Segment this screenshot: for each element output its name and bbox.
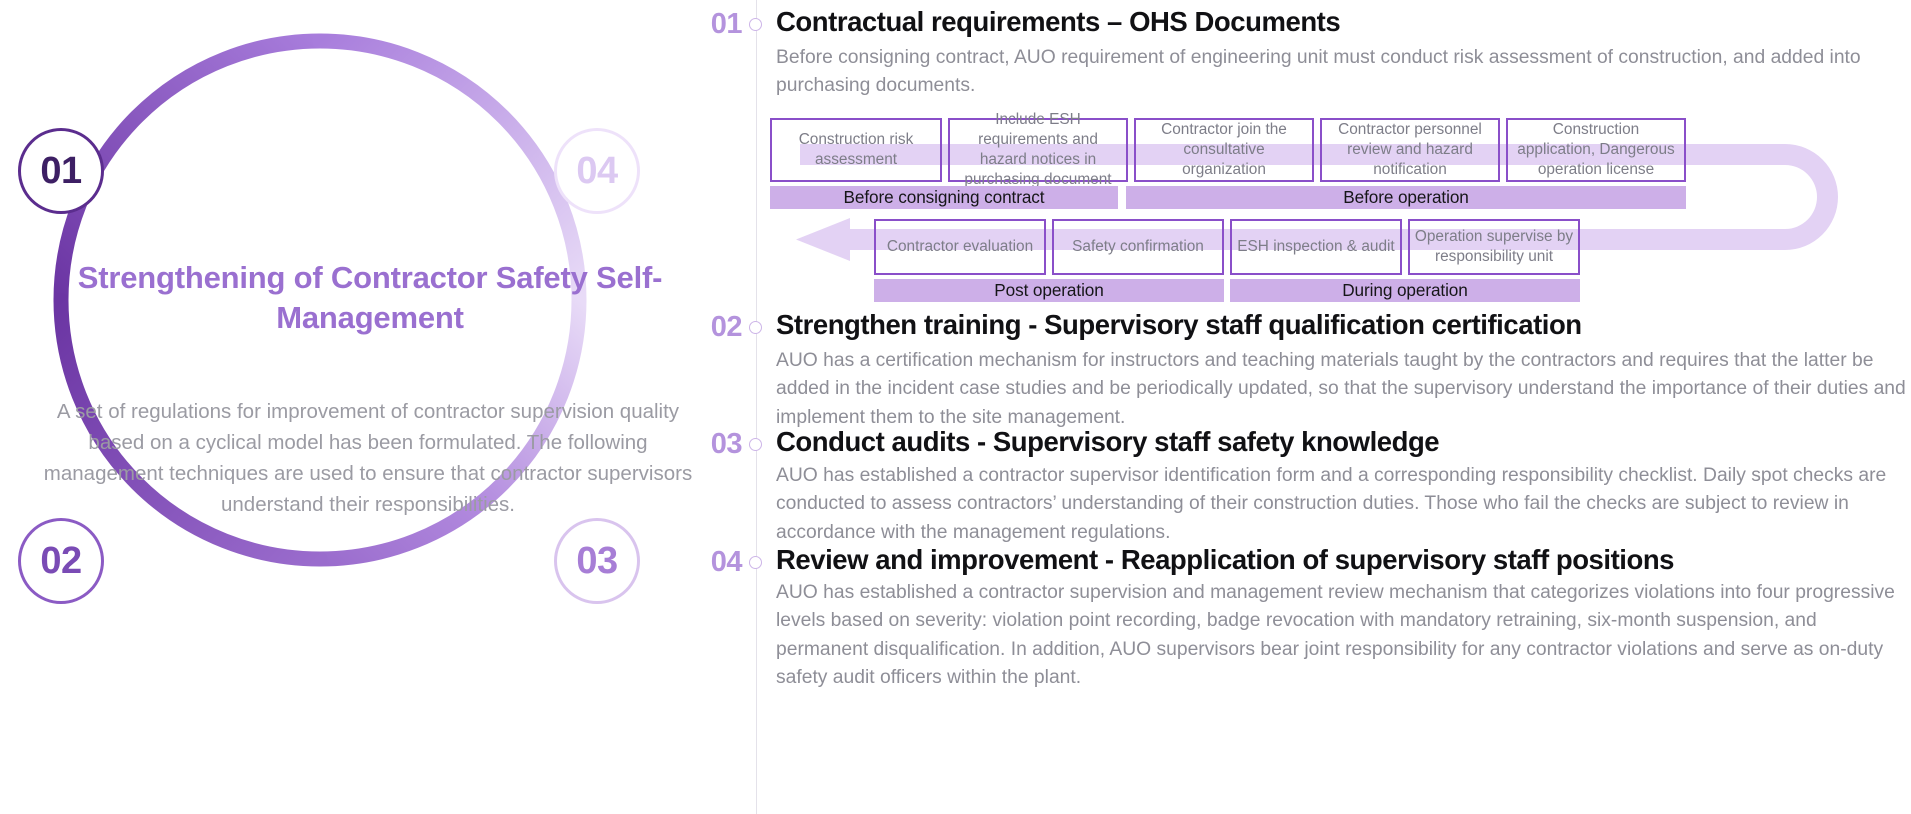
item-02-description: AUO has a certification mechanism for in… [776, 347, 1906, 432]
flow-box-safety-confirmation[interactable]: Safety confirmation [1052, 219, 1224, 275]
flow-bar-label: During operation [1342, 280, 1467, 301]
item-list: 01 Contractual requirements – OHS Docume… [0, 0, 1911, 814]
flow-box-label: Contractor evaluation [887, 237, 1033, 257]
item-02-title: Strengthen training - Supervisory staff … [776, 309, 1582, 341]
flow-box-label: Operation supervise by responsibility un… [1414, 227, 1574, 267]
flow-box-include-esh-requirements[interactable]: Include ESH requirements and hazard noti… [948, 118, 1128, 182]
item-03-title: Conduct audits - Supervisory staff safet… [776, 426, 1439, 458]
item-01-number: 01 [684, 8, 742, 41]
flow-box-label: Construction application, Dangerous oper… [1512, 120, 1680, 180]
flow-bar-label: Post operation [994, 280, 1103, 301]
flow-bar-label: Before operation [1343, 187, 1469, 208]
item-04-bullet-icon [749, 556, 762, 569]
flow-box-label: ESH inspection & audit [1237, 237, 1394, 257]
flow-box-contractor-join-consultative[interactable]: Contractor join the consultative organiz… [1134, 118, 1314, 182]
item-03-number: 03 [684, 428, 742, 461]
flow-bar-before-consigning-contract: Before consigning contract [770, 186, 1118, 209]
flow-bar-during-operation: During operation [1230, 279, 1580, 302]
flow-box-label: Construction risk assessment [776, 130, 936, 170]
flow-box-label: Include ESH requirements and hazard noti… [954, 110, 1122, 190]
flow-box-contractor-evaluation[interactable]: Contractor evaluation [874, 219, 1046, 275]
ohs-process-flow: Construction risk assessment Include ESH… [770, 118, 1890, 293]
item-04-number: 04 [684, 546, 742, 579]
flow-box-label: Contractor join the consultative organiz… [1140, 120, 1308, 180]
item-02-number: 02 [684, 311, 742, 344]
infographic-page: 01 02 03 04 Strengthening of Contractor … [0, 0, 1911, 814]
flow-box-label: Safety confirmation [1072, 237, 1204, 257]
item-02-bullet-icon [749, 321, 762, 334]
flow-bar-post-operation: Post operation [874, 279, 1224, 302]
flow-box-construction-risk-assessment[interactable]: Construction risk assessment [770, 118, 942, 182]
flow-box-esh-inspection-audit[interactable]: ESH inspection & audit [1230, 219, 1402, 275]
item-01-bullet-icon [749, 18, 762, 31]
flow-box-label: Contractor personnel review and hazard n… [1326, 120, 1494, 180]
item-04-title: Review and improvement - Reapplication o… [776, 544, 1674, 576]
flow-box-construction-application-license[interactable]: Construction application, Dangerous oper… [1506, 118, 1686, 182]
flow-bar-before-operation: Before operation [1126, 186, 1686, 209]
item-03-description: AUO has established a contractor supervi… [776, 462, 1906, 547]
flow-bar-label: Before consigning contract [844, 187, 1045, 208]
item-04-description: AUO has established a contractor supervi… [776, 579, 1906, 692]
item-01-title: Contractual requirements – OHS Documents [776, 6, 1340, 38]
flow-box-contractor-personnel-review[interactable]: Contractor personnel review and hazard n… [1320, 118, 1500, 182]
item-03-bullet-icon [749, 438, 762, 451]
flow-box-operation-supervise[interactable]: Operation supervise by responsibility un… [1408, 219, 1580, 275]
item-01-description: Before consigning contract, AUO requirem… [776, 44, 1906, 101]
